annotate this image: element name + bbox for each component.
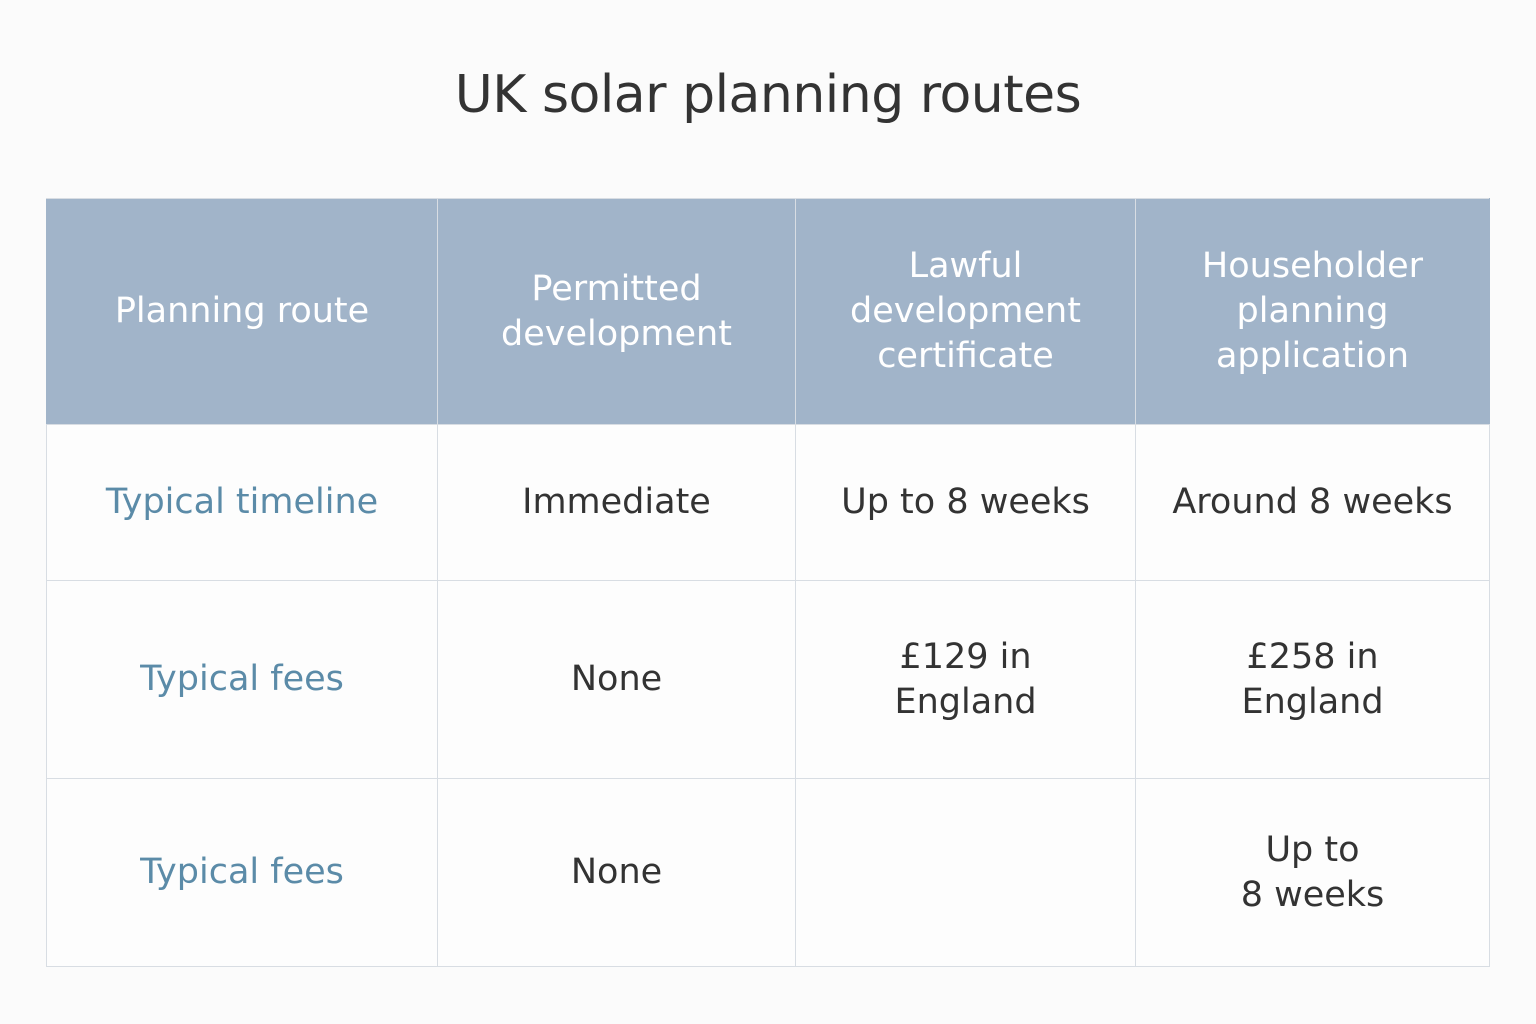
header-line: certificate xyxy=(808,334,1123,379)
header-line: Lawful xyxy=(808,244,1123,289)
row-label-typical-timeline: Typical timeline xyxy=(47,425,438,581)
cell-timeline-householder-planning-application: Around 8 weeks xyxy=(1136,425,1490,581)
cell-line: Up to xyxy=(1148,828,1477,873)
column-header-planning-route: Planning route xyxy=(47,199,438,425)
table-row: Typical timeline Immediate Up to 8 weeks… xyxy=(47,425,1490,581)
header-line: Householder xyxy=(1148,244,1477,289)
cell-timeline-permitted-development: Immediate xyxy=(438,425,796,581)
header-line: application xyxy=(1148,334,1477,379)
cell-fees-secondary-lawful-development-certificate xyxy=(796,779,1136,967)
comparison-table-container: Planning route Permitted development Law… xyxy=(46,198,1489,966)
cell-timeline-lawful-development-certificate: Up to 8 weeks xyxy=(796,425,1136,581)
column-header-permitted-development: Permitted development xyxy=(438,199,796,425)
cell-fees-lawful-development-certificate: £129 in England xyxy=(796,581,1136,779)
cell-line: 8 weeks xyxy=(1148,873,1477,918)
table-body: Typical timeline Immediate Up to 8 weeks… xyxy=(47,425,1490,967)
cell-line: £258 in xyxy=(1148,635,1477,680)
cell-line: England xyxy=(808,680,1123,725)
cell-line: £129 in xyxy=(808,635,1123,680)
header-line: planning xyxy=(1148,289,1477,334)
table-row: Typical fees None Up to 8 weeks xyxy=(47,779,1490,967)
column-header-householder-planning-application: Householder planning application xyxy=(1136,199,1490,425)
cell-line: England xyxy=(1148,680,1477,725)
row-label-typical-fees: Typical fees xyxy=(47,581,438,779)
header-line: development xyxy=(450,312,783,357)
table-header: Planning route Permitted development Law… xyxy=(47,199,1490,425)
table-header-row: Planning route Permitted development Law… xyxy=(47,199,1490,425)
header-line: development xyxy=(808,289,1123,334)
page-title: UK solar planning routes xyxy=(0,66,1536,126)
cell-fees-secondary-householder-planning-application: Up to 8 weeks xyxy=(1136,779,1490,967)
cell-fees-secondary-permitted-development: None xyxy=(438,779,796,967)
planning-routes-table: Planning route Permitted development Law… xyxy=(46,198,1490,967)
column-header-lawful-development-certificate: Lawful development certificate xyxy=(796,199,1136,425)
table-row: Typical fees None £129 in England £258 i… xyxy=(47,581,1490,779)
row-label-typical-fees-secondary: Typical fees xyxy=(47,779,438,967)
page-canvas: UK solar planning routes Planning route … xyxy=(0,0,1536,1024)
cell-fees-householder-planning-application: £258 in England xyxy=(1136,581,1490,779)
cell-fees-permitted-development: None xyxy=(438,581,796,779)
header-line: Permitted xyxy=(450,267,783,312)
